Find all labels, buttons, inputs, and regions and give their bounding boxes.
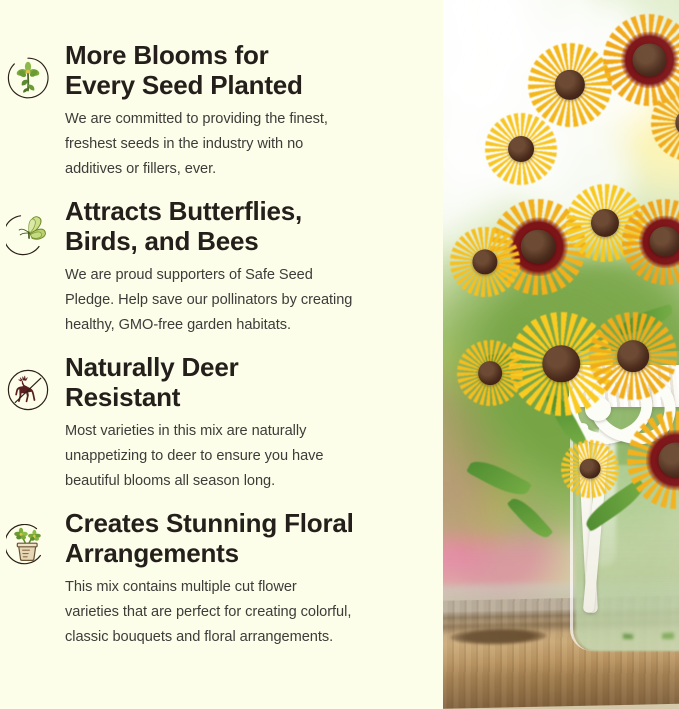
benefit-text-block: Naturally Deer Resistant Most varieties …: [52, 352, 429, 494]
benefit-text-block: Attracts Butterflies, Birds, and Bees We…: [52, 196, 429, 338]
benefit-description: Most varieties in this mix are naturally…: [65, 419, 419, 494]
benefit-text-block: More Blooms for Every Seed Planted We ar…: [52, 40, 429, 182]
benefit-title: Creates Stunning Floral Arrangements: [65, 508, 419, 568]
benefit-title: More Blooms for Every Seed Planted: [65, 40, 419, 100]
benefits-panel: More Blooms for Every Seed Planted We ar…: [0, 0, 443, 709]
product-benefits-page: More Blooms for Every Seed Planted We ar…: [0, 0, 679, 709]
benefit-item-deer-resistant: Naturally Deer Resistant Most varieties …: [0, 352, 443, 494]
benefit-item-floral-arrangements: Creates Stunning Floral Arrangements Thi…: [0, 508, 443, 650]
benefit-title: Attracts Butterflies, Birds, and Bees: [65, 196, 419, 256]
benefit-item-attracts-pollinators: Attracts Butterflies, Birds, and Bees We…: [0, 196, 443, 338]
flower-bouquet-photo: [443, 0, 679, 709]
butterfly-icon: [0, 196, 52, 248]
potted-plant-icon: [0, 508, 52, 560]
benefit-item-more-blooms: More Blooms for Every Seed Planted We ar…: [0, 40, 443, 182]
no-deer-icon: [0, 352, 52, 404]
benefit-title: Naturally Deer Resistant: [65, 352, 419, 412]
benefit-description: We are proud supporters of Safe Seed Ple…: [65, 263, 419, 338]
benefit-text-block: Creates Stunning Floral Arrangements Thi…: [52, 508, 429, 650]
flower-sprout-icon: [0, 40, 52, 92]
benefit-description: We are committed to providing the finest…: [65, 107, 419, 182]
benefit-description: This mix contains multiple cut flower va…: [65, 575, 419, 650]
rudbeckia-bouquet: [443, 0, 679, 709]
